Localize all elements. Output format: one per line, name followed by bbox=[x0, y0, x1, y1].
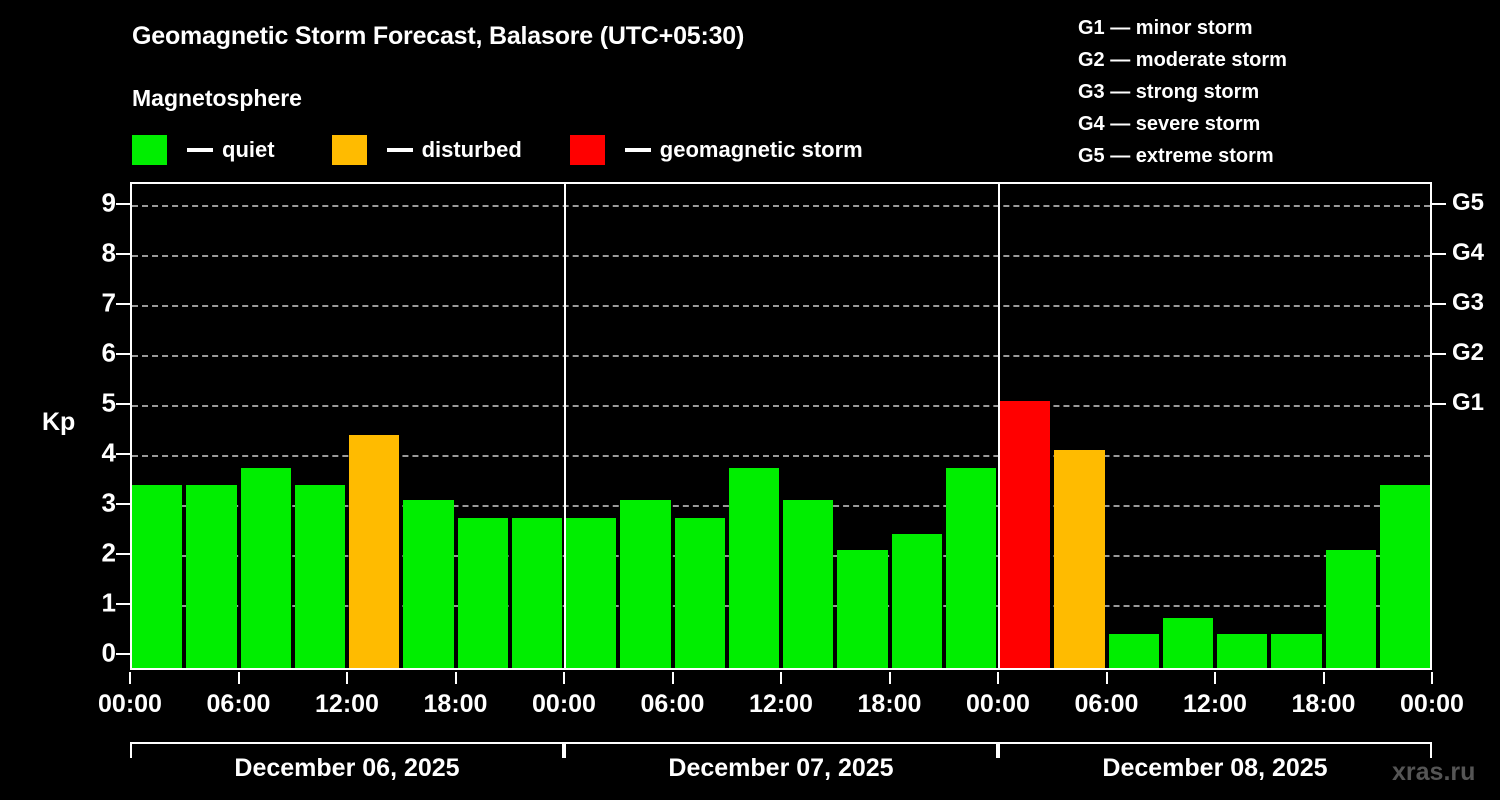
legend-swatch-quiet bbox=[132, 135, 167, 165]
g-tick-mark-g3 bbox=[1432, 303, 1446, 305]
g-tick-mark-g5 bbox=[1432, 203, 1446, 205]
x-tick-label-8: 00:00 bbox=[966, 690, 1030, 719]
g-scale-row-g5: G5 — extreme storm bbox=[1078, 140, 1287, 172]
gridline-kp-8 bbox=[132, 255, 1430, 257]
x-tick-mark-11 bbox=[1323, 672, 1325, 684]
section-label-magnetosphere: Magnetosphere bbox=[132, 85, 302, 112]
bar[interactable] bbox=[1326, 550, 1376, 669]
plot-inner bbox=[132, 184, 1430, 668]
x-tick-mark-0 bbox=[129, 672, 131, 684]
g-scale-row-g1: G1 — minor storm bbox=[1078, 12, 1287, 44]
y-tick-label-9: 9 bbox=[76, 188, 116, 219]
gridline-kp-5 bbox=[132, 405, 1430, 407]
x-tick-label-1: 06:00 bbox=[207, 690, 271, 719]
g-scale-legend: G1 — minor storm G2 — moderate storm G3 … bbox=[1078, 12, 1287, 172]
y-tick-mark-4 bbox=[116, 453, 130, 455]
watermark: xras.ru bbox=[1392, 758, 1475, 787]
bar[interactable] bbox=[892, 534, 942, 669]
y-tick-label-4: 4 bbox=[76, 438, 116, 469]
bar[interactable] bbox=[132, 485, 182, 669]
y-tick-mark-6 bbox=[116, 353, 130, 355]
y-tick-label-2: 2 bbox=[76, 538, 116, 569]
bar[interactable] bbox=[295, 485, 345, 669]
legend-dash-disturbed bbox=[387, 148, 413, 152]
day-separator bbox=[564, 184, 566, 670]
page-title: Geomagnetic Storm Forecast, Balasore (UT… bbox=[132, 22, 744, 51]
g-tick-label-g4: G4 bbox=[1452, 239, 1484, 267]
g-tick-mark-g1 bbox=[1432, 403, 1446, 405]
y-tick-label-6: 6 bbox=[76, 338, 116, 369]
bar[interactable] bbox=[783, 500, 833, 669]
gridline-kp-7 bbox=[132, 305, 1430, 307]
legend-label-disturbed: disturbed bbox=[422, 137, 522, 163]
bar[interactable] bbox=[1109, 634, 1159, 669]
bar[interactable] bbox=[675, 518, 725, 669]
y-tick-mark-9 bbox=[116, 203, 130, 205]
legend-label-storm: geomagnetic storm bbox=[660, 137, 863, 163]
gridline-kp-9 bbox=[132, 205, 1430, 207]
x-tick-label-10: 12:00 bbox=[1183, 690, 1247, 719]
g-tick-label-g1: G1 bbox=[1452, 389, 1484, 417]
x-tick-label-7: 18:00 bbox=[858, 690, 922, 719]
g-tick-mark-g4 bbox=[1432, 253, 1446, 255]
y-tick-mark-1 bbox=[116, 603, 130, 605]
x-tick-label-2: 12:00 bbox=[315, 690, 379, 719]
bar[interactable] bbox=[186, 485, 236, 669]
bar[interactable] bbox=[458, 518, 508, 669]
y-tick-label-8: 8 bbox=[76, 238, 116, 269]
x-tick-mark-4 bbox=[563, 672, 565, 684]
bar[interactable] bbox=[403, 500, 453, 669]
day-label: December 06, 2025 bbox=[234, 754, 459, 783]
g-scale-row-g4: G4 — severe storm bbox=[1078, 108, 1287, 140]
day-separator bbox=[998, 184, 1000, 670]
plot-area bbox=[130, 182, 1432, 670]
x-tick-mark-12 bbox=[1431, 672, 1433, 684]
y-tick-mark-0 bbox=[116, 653, 130, 655]
y-tick-label-3: 3 bbox=[76, 488, 116, 519]
day-label: December 07, 2025 bbox=[668, 754, 893, 783]
legend-label-quiet: quiet bbox=[222, 137, 275, 163]
x-tick-label-12: 00:00 bbox=[1400, 690, 1464, 719]
g-tick-label-g2: G2 bbox=[1452, 339, 1484, 367]
y-tick-label-1: 1 bbox=[76, 588, 116, 619]
color-legend: quiet disturbed geomagnetic storm bbox=[132, 132, 863, 168]
legend-swatch-storm bbox=[570, 135, 605, 165]
y-tick-label-7: 7 bbox=[76, 288, 116, 319]
bar[interactable] bbox=[1000, 401, 1050, 668]
bar[interactable] bbox=[620, 500, 670, 669]
y-tick-label-0: 0 bbox=[76, 638, 116, 669]
bar[interactable] bbox=[837, 550, 887, 669]
legend-entry-disturbed: disturbed bbox=[332, 135, 522, 165]
legend-entry-storm: geomagnetic storm bbox=[570, 135, 863, 165]
g-tick-label-g5: G5 bbox=[1452, 189, 1484, 217]
legend-swatch-disturbed bbox=[332, 135, 367, 165]
y-axis-title: Kp bbox=[42, 408, 75, 437]
y-tick-label-5: 5 bbox=[76, 388, 116, 419]
legend-dash-quiet bbox=[187, 148, 213, 152]
bar[interactable] bbox=[729, 468, 779, 669]
bar[interactable] bbox=[1380, 485, 1430, 669]
bar[interactable] bbox=[1271, 634, 1321, 669]
x-tick-mark-10 bbox=[1214, 672, 1216, 684]
x-tick-label-6: 12:00 bbox=[749, 690, 813, 719]
y-tick-mark-7 bbox=[116, 303, 130, 305]
x-tick-label-5: 06:00 bbox=[641, 690, 705, 719]
x-tick-mark-9 bbox=[1106, 672, 1108, 684]
bar[interactable] bbox=[946, 468, 996, 669]
y-tick-mark-3 bbox=[116, 503, 130, 505]
legend-dash-storm bbox=[625, 148, 651, 152]
bar[interactable] bbox=[1054, 450, 1104, 669]
bar[interactable] bbox=[566, 518, 616, 669]
x-tick-mark-3 bbox=[455, 672, 457, 684]
bar[interactable] bbox=[1217, 634, 1267, 669]
bar[interactable] bbox=[512, 518, 562, 669]
y-tick-mark-2 bbox=[116, 553, 130, 555]
x-tick-mark-1 bbox=[238, 672, 240, 684]
g-tick-mark-g2 bbox=[1432, 353, 1446, 355]
gridline-kp-6 bbox=[132, 355, 1430, 357]
g-scale-row-g2: G2 — moderate storm bbox=[1078, 44, 1287, 76]
y-tick-mark-8 bbox=[116, 253, 130, 255]
x-tick-label-4: 00:00 bbox=[532, 690, 596, 719]
gridline-kp-4 bbox=[132, 455, 1430, 457]
bar[interactable] bbox=[349, 435, 399, 669]
x-tick-mark-7 bbox=[889, 672, 891, 684]
g-scale-row-g3: G3 — strong storm bbox=[1078, 76, 1287, 108]
bar[interactable] bbox=[1163, 618, 1213, 669]
x-tick-mark-5 bbox=[672, 672, 674, 684]
x-tick-label-0: 00:00 bbox=[98, 690, 162, 719]
x-tick-mark-8 bbox=[997, 672, 999, 684]
x-tick-label-3: 18:00 bbox=[424, 690, 488, 719]
x-tick-mark-6 bbox=[780, 672, 782, 684]
x-tick-label-11: 18:00 bbox=[1292, 690, 1356, 719]
legend-entry-quiet: quiet bbox=[132, 135, 275, 165]
x-tick-mark-2 bbox=[346, 672, 348, 684]
bar[interactable] bbox=[241, 468, 291, 669]
y-tick-mark-5 bbox=[116, 403, 130, 405]
g-tick-label-g3: G3 bbox=[1452, 289, 1484, 317]
x-tick-label-9: 06:00 bbox=[1075, 690, 1139, 719]
day-label: December 08, 2025 bbox=[1102, 754, 1327, 783]
